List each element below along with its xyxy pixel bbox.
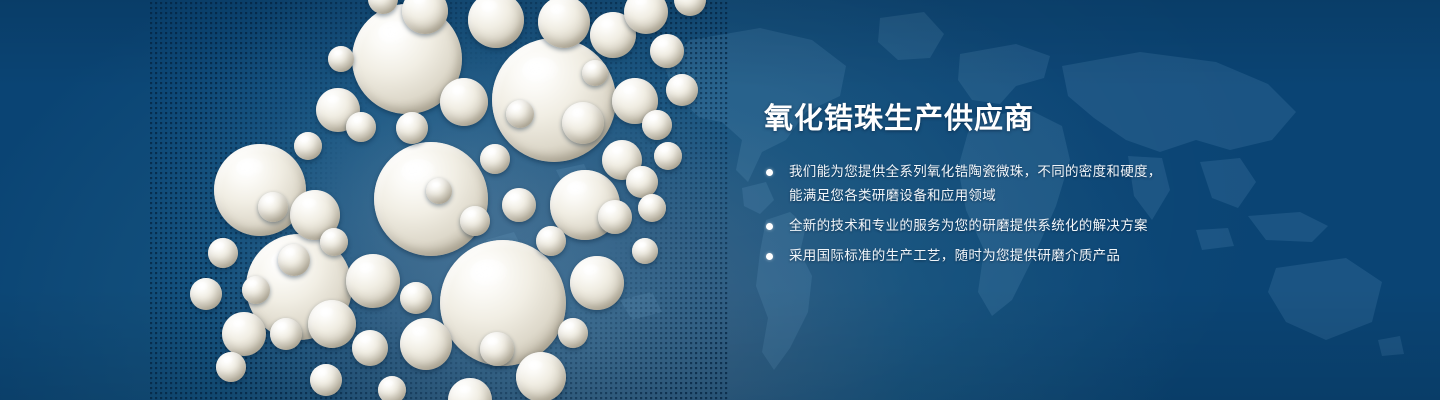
page-title: 氧化锆珠生产供应商 [764, 100, 1364, 136]
hero-banner: 氧化锆珠生产供应商 我们能为您提供全系列氧化锆陶瓷微珠，不同的密度和硬度， 能满… [0, 0, 1440, 400]
list-item-line: 全新的技术和专业的服务为您的研磨提供系统化的解决方案 [789, 214, 1364, 238]
zirconia-beads-photo [150, 0, 730, 400]
bullet-dot-icon [766, 169, 773, 176]
bullet-dot-icon [766, 223, 773, 230]
list-item-line: 能满足您各类研磨设备和应用领域 [789, 184, 1364, 208]
list-item-line: 采用国际标准的生产工艺，随时为您提供研磨介质产品 [789, 244, 1364, 268]
banner-copy: 氧化锆珠生产供应商 我们能为您提供全系列氧化锆陶瓷微珠，不同的密度和硬度， 能满… [764, 100, 1364, 274]
list-item-line: 我们能为您提供全系列氧化锆陶瓷微珠，不同的密度和硬度， [789, 160, 1364, 184]
list-item: 我们能为您提供全系列氧化锆陶瓷微珠，不同的密度和硬度， 能满足您各类研磨设备和应… [764, 160, 1364, 208]
feature-list: 我们能为您提供全系列氧化锆陶瓷微珠，不同的密度和硬度， 能满足您各类研磨设备和应… [764, 160, 1364, 268]
list-item: 采用国际标准的生产工艺，随时为您提供研磨介质产品 [764, 244, 1364, 268]
bullet-dot-icon [766, 253, 773, 260]
list-item: 全新的技术和专业的服务为您的研磨提供系统化的解决方案 [764, 214, 1364, 238]
